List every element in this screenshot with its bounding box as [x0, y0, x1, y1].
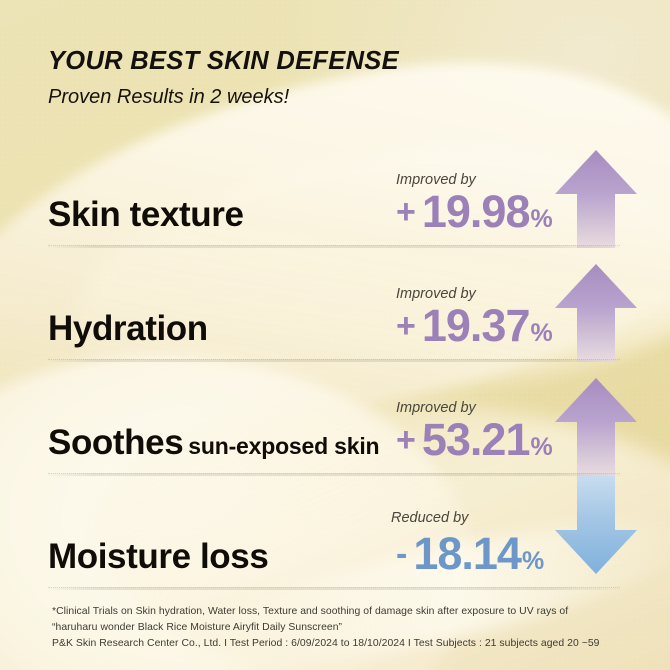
row-divider	[48, 245, 620, 248]
metric-unit: %	[530, 433, 552, 461]
arrow-up-icon	[553, 262, 639, 366]
metric-unit: %	[530, 205, 552, 233]
row-divider	[48, 473, 620, 476]
poster-canvas: YOUR BEST SKIN DEFENSE Proven Results in…	[0, 0, 670, 670]
metric-sign: +	[396, 421, 416, 459]
page-title: YOUR BEST SKIN DEFENSE	[48, 47, 399, 75]
metric-row: Skin texture Improved by +19.98%	[0, 140, 670, 254]
page-subtitle: Proven Results in 2 weeks!	[48, 86, 399, 108]
metric-label-sub: sun-exposed skin	[188, 433, 379, 459]
arrow-down-icon	[553, 472, 639, 576]
metric-sign: -	[396, 535, 407, 573]
metric-label: Moisture loss	[48, 539, 273, 574]
metric-label-main: Moisture loss	[48, 537, 268, 576]
metric-value: +19.37%	[396, 303, 553, 348]
metric-row: Moisture loss Reduced by -18.14%	[0, 482, 670, 596]
metric-number: 19.37	[422, 300, 530, 351]
metric-label: Soothessun-exposed skin	[48, 425, 379, 460]
metric-sign: +	[396, 193, 416, 231]
metrics-list: Skin texture Improved by +19.98%	[0, 140, 670, 596]
arrow-up-icon	[553, 376, 639, 480]
metric-unit: %	[522, 547, 544, 575]
metric-number: 53.21	[422, 414, 530, 465]
metric-number: 18.14	[413, 528, 521, 579]
metric-value: +19.98%	[396, 189, 553, 234]
metric-label-main: Hydration	[48, 309, 208, 348]
row-divider	[48, 587, 620, 590]
footnote-line-1: *Clinical Trials on Skin hydration, Wate…	[52, 604, 652, 620]
footnote-line-2: “haruharu wonder Black Rice Moisture Air…	[52, 620, 652, 636]
metric-label-main: Soothes	[48, 423, 183, 462]
arrow-up-icon	[553, 148, 639, 252]
metric-value: -18.14%	[396, 531, 544, 576]
metric-number: 19.98	[422, 186, 530, 237]
metric-label-main: Skin texture	[48, 195, 244, 234]
metric-row: Soothessun-exposed skin Improved by +53.…	[0, 368, 670, 482]
metric-label: Skin texture	[48, 197, 249, 232]
metric-row: Hydration Improved by +19.37%	[0, 254, 670, 368]
metric-unit: %	[530, 319, 552, 347]
metric-sign: +	[396, 307, 416, 345]
metric-value: +53.21%	[396, 417, 553, 462]
metric-caption: Reduced by	[391, 510, 468, 526]
metric-label: Hydration	[48, 311, 213, 346]
headline-block: YOUR BEST SKIN DEFENSE Proven Results in…	[48, 47, 399, 108]
row-divider	[48, 359, 620, 362]
footnote-line-3: P&K Skin Research Center Co., Ltd. I Tes…	[52, 636, 652, 652]
footnote-block: *Clinical Trials on Skin hydration, Wate…	[52, 604, 652, 651]
